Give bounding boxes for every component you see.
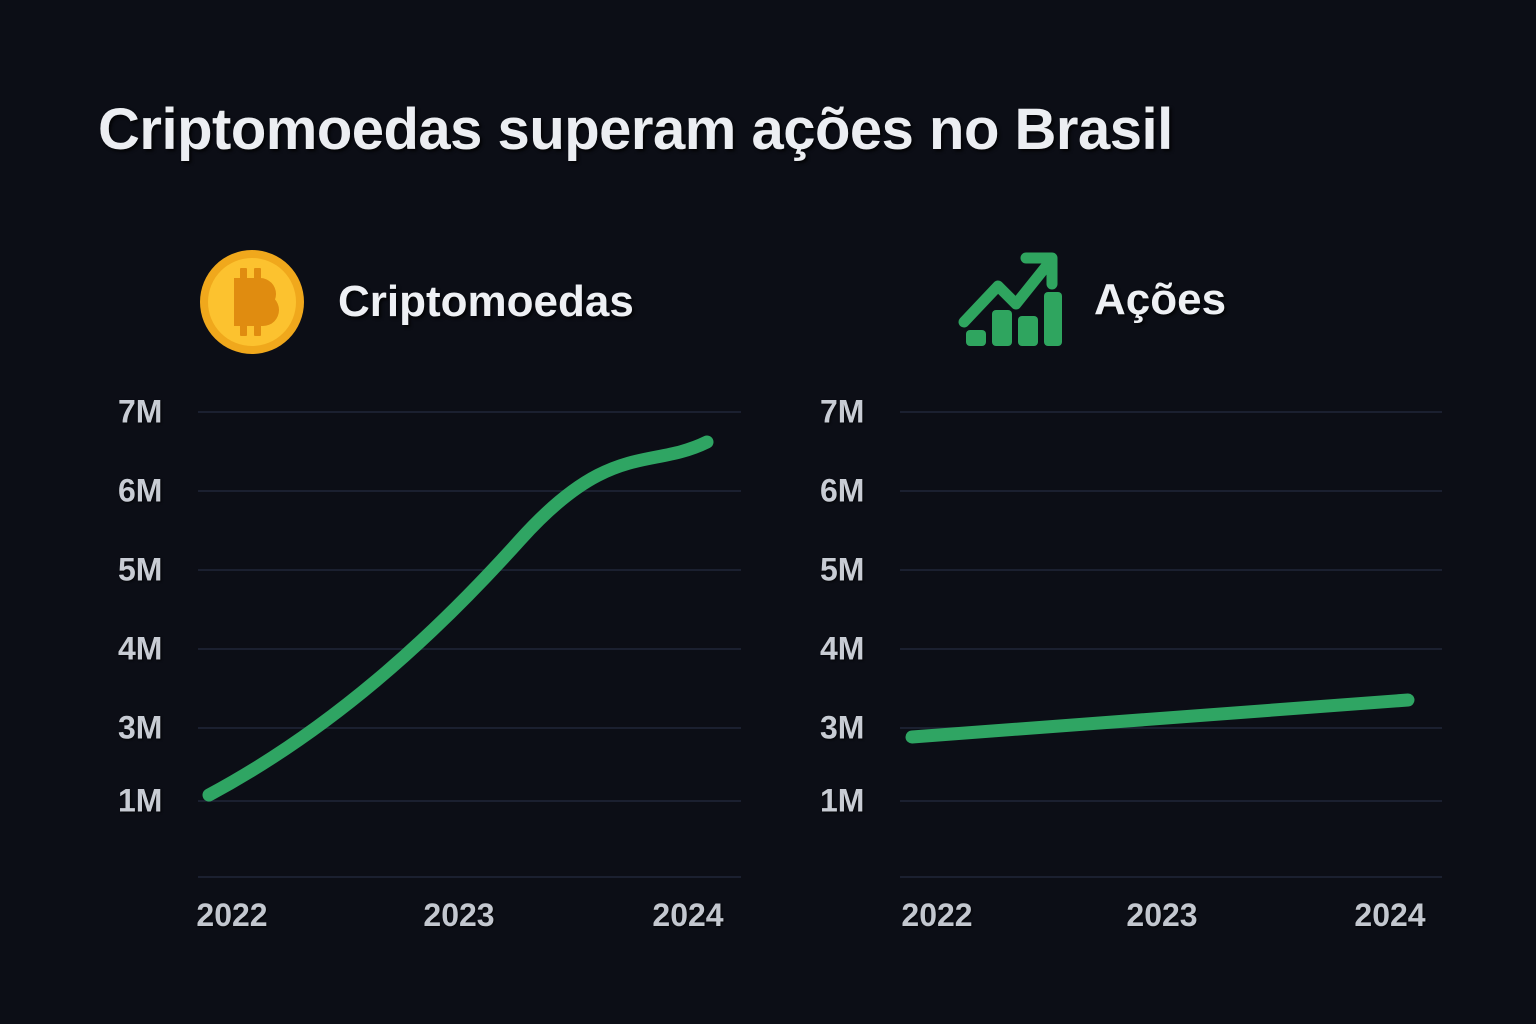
panel-criptomoedas: Criptomoedas 7 [0, 0, 768, 1024]
y-tick-4m: 4M [118, 631, 162, 668]
chart-criptomoedas: 7M 6M 5M 4M 3M 1M 2022 2023 2024 [0, 0, 768, 1024]
gridlines [198, 412, 741, 801]
infographic-root: Criptomoedas superam ações no Brasil [0, 0, 1536, 1024]
data-line-criptomoedas [209, 442, 707, 795]
y-tick-7m: 7M [118, 394, 162, 431]
x-tick-2022: 2022 [901, 897, 972, 934]
x-tick-2023: 2023 [423, 897, 494, 934]
y-tick-3m: 3M [820, 710, 864, 747]
x-tick-2024: 2024 [652, 897, 723, 934]
y-tick-1m: 1M [118, 783, 162, 820]
x-tick-2023: 2023 [1126, 897, 1197, 934]
x-tick-2024: 2024 [1354, 897, 1425, 934]
y-tick-5m: 5M [118, 552, 162, 589]
panel-acoes: Ações 7M 6M [768, 0, 1536, 1024]
gridlines [900, 412, 1442, 801]
y-tick-5m: 5M [820, 552, 864, 589]
y-tick-1m: 1M [820, 783, 864, 820]
charts-container: Criptomoedas 7 [0, 0, 1536, 1024]
data-line-acoes [912, 700, 1408, 737]
chart-acoes-plot [768, 0, 1536, 1024]
y-tick-4m: 4M [820, 631, 864, 668]
y-tick-7m: 7M [820, 394, 864, 431]
chart-criptomoedas-plot [0, 0, 768, 1024]
x-tick-2022: 2022 [196, 897, 267, 934]
y-tick-3m: 3M [118, 710, 162, 747]
y-tick-6m: 6M [820, 473, 864, 510]
y-tick-6m: 6M [118, 473, 162, 510]
chart-acoes: 7M 6M 5M 4M 3M 1M 2022 2023 2024 [768, 0, 1536, 1024]
